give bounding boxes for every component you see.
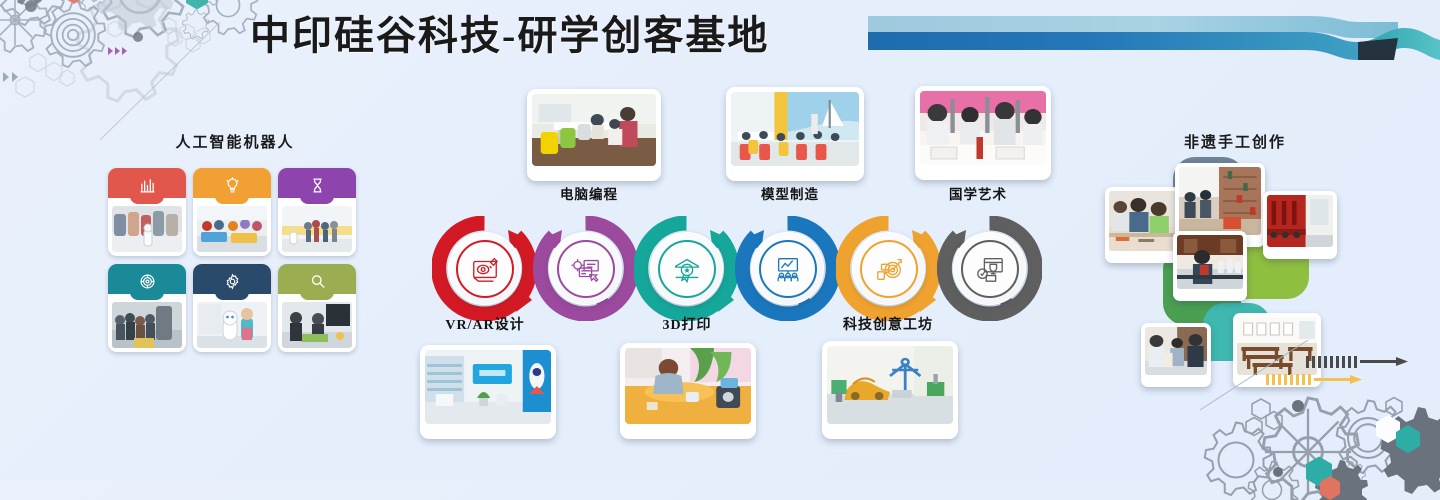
target-arrow-icon [874,254,904,284]
photo-card-traditional-arts[interactable] [915,86,1051,180]
card-photo [282,302,352,348]
photo [1179,167,1261,235]
hourglass-icon [278,171,356,199]
photo-card-vr-ar-showroom[interactable] [420,345,556,439]
photo [731,92,859,166]
card-photo [282,206,352,252]
photo-card-maker-workshop[interactable] [822,341,958,439]
icon-disc [549,232,622,305]
circle-label-3d-printing: 3D打印 [634,314,740,334]
intangible-heritage-cluster [1105,155,1370,360]
icon-disc [852,232,925,305]
photo [1177,235,1243,289]
program-circle-row [432,216,1042,321]
blue-ribbon-banner [838,8,1440,72]
mini-card-target[interactable] [108,264,186,352]
lightbulb-icon [193,171,271,199]
photo [1267,195,1333,247]
photo [532,94,656,166]
photo-card-red-rack-room[interactable] [1263,191,1337,259]
photo-card-craft-guidance[interactable] [1105,187,1183,263]
mini-card-lightbulb[interactable] [193,168,271,256]
icon-disc [953,232,1026,305]
mini-card-gear[interactable] [193,264,271,352]
target-icon [108,267,186,295]
program-circle-computer-programming[interactable] [533,216,638,321]
photo-card-wooden-desks-classroom[interactable] [1233,313,1321,387]
card-photo [197,302,267,348]
photo [425,350,551,424]
gear-icon [193,267,271,295]
award-badge-icon [672,254,702,284]
program-circle-3d-printing[interactable] [634,216,739,321]
icon-disc [751,232,824,305]
photo-label-model-making: 模型制造 [726,183,854,203]
photo [827,346,953,424]
photo-card-craftsman-bench[interactable] [1173,231,1247,301]
trophy-screen-icon [975,254,1005,284]
photo-card-3d-printing[interactable] [620,343,756,439]
vr-design-icon [470,254,500,284]
program-circle-traditional-arts[interactable] [937,216,1042,321]
poster-canvas: 中印硅谷科技-研学创客基地 人工智能机器人 [0,0,1440,480]
photo-card-model-making[interactable] [726,87,864,181]
program-circle-model-making[interactable] [735,216,840,321]
photo-card-computer-programming[interactable] [527,89,661,181]
circle-label-tech-creative-workshop: 科技创意工坊 [828,314,948,334]
photo [1109,191,1179,251]
program-circle-vr-ar-design[interactable] [432,216,537,321]
icon-disc [448,232,521,305]
card-photo [112,206,182,252]
section-heading-left: 人工智能机器人 [110,131,360,152]
bar-chart-icon [108,171,186,199]
section-heading-right: 非遗手工创作 [1110,131,1360,152]
card-photo [197,206,267,252]
mini-card-hourglass[interactable] [278,168,356,256]
mini-card-bar-chart[interactable] [108,168,186,256]
gears-hexagons-decoration [0,0,280,140]
mini-card-magnifier[interactable] [278,264,356,352]
circle-label-vr-ar-design: VR/AR设计 [432,314,538,334]
photo [1237,317,1317,375]
photo [920,91,1046,165]
photo-card-exhibit-visitors[interactable] [1141,323,1211,387]
photo-label-computer-programming: 电脑编程 [527,183,651,203]
photo [625,348,751,424]
ai-robotics-card-grid [108,168,358,358]
icon-disc [650,232,723,305]
photo-label-traditional-arts: 国学艺术 [915,183,1041,203]
card-photo [112,302,182,348]
program-circle-tech-creative-workshop[interactable] [836,216,941,321]
photo [1145,327,1207,375]
coding-touch-icon [571,254,601,284]
presentation-team-icon [773,254,803,284]
magnifier-icon [278,267,356,295]
page-title: 中印硅谷科技-研学创客基地 [250,8,820,64]
